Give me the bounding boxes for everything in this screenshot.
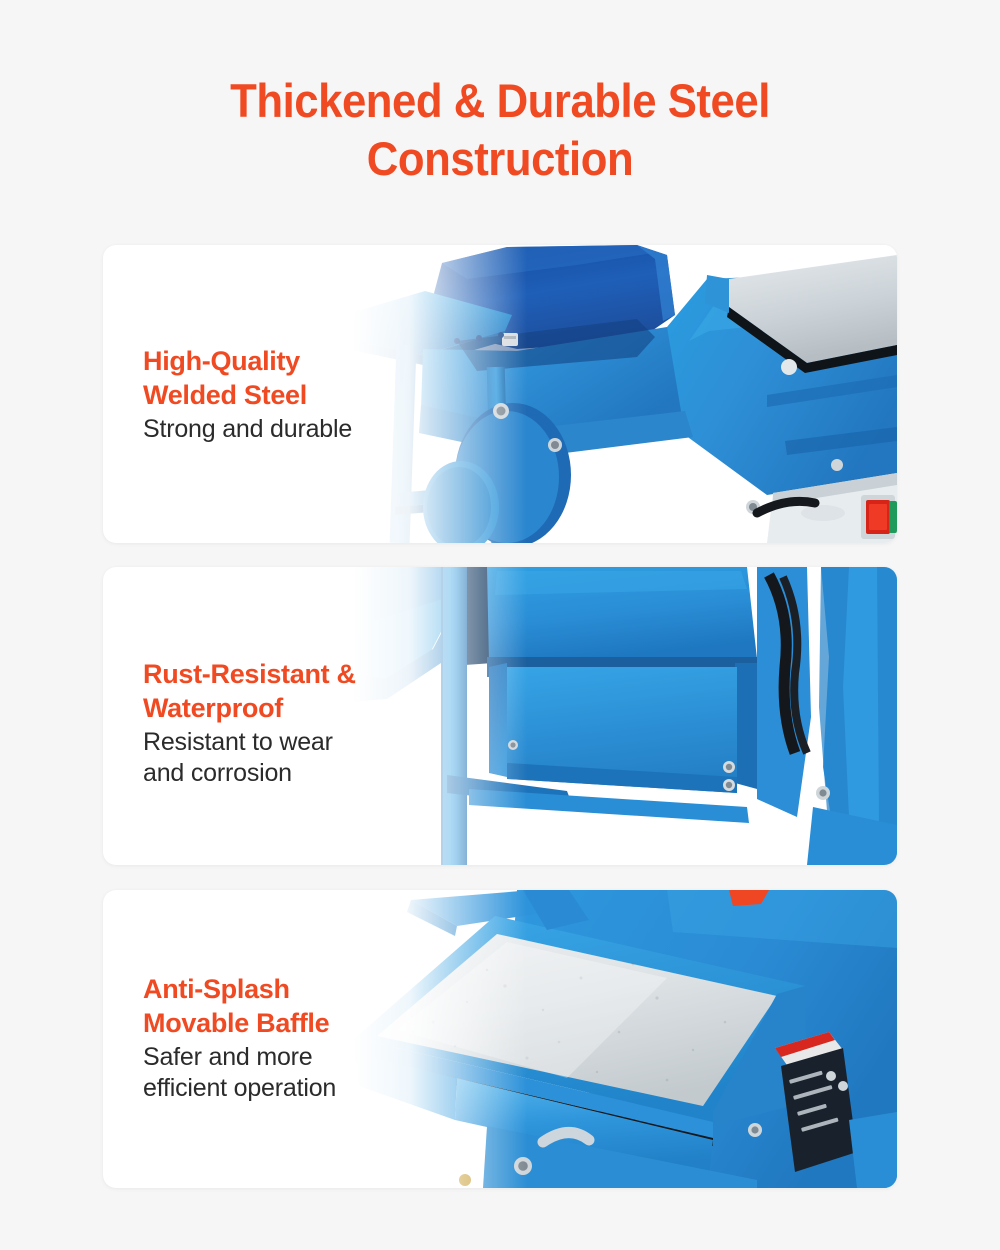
feature-card-welded-steel: High-Quality Welded Steel Strong and dur… [103, 245, 897, 543]
feature-heading: Anti-Splash Movable Baffle [143, 972, 433, 1040]
feature-heading: Rust-Resistant & Waterproof [143, 657, 433, 725]
feature-heading: High-Quality Welded Steel [143, 344, 433, 412]
feature-card-anti-splash-baffle: Anti-Splash Movable Baffle Safer and mor… [103, 890, 897, 1188]
feature-subtext: Resistant to wear and corrosion [143, 727, 433, 789]
feature-card-rust-resistant: Rust-Resistant & Waterproof Resistant to… [103, 567, 897, 865]
marketing-feature-page: Thickened & Durable Steel Construction [0, 0, 1000, 1250]
feature-subtext: Safer and more efficient operation [143, 1042, 433, 1104]
feature-subtext: Strong and durable [143, 414, 433, 445]
page-title: Thickened & Durable Steel Construction [35, 72, 965, 188]
feature-card-text-block: Rust-Resistant & Waterproof Resistant to… [143, 657, 433, 789]
feature-card-text-block: High-Quality Welded Steel Strong and dur… [143, 344, 433, 445]
feature-card-text-block: Anti-Splash Movable Baffle Safer and mor… [143, 972, 433, 1104]
